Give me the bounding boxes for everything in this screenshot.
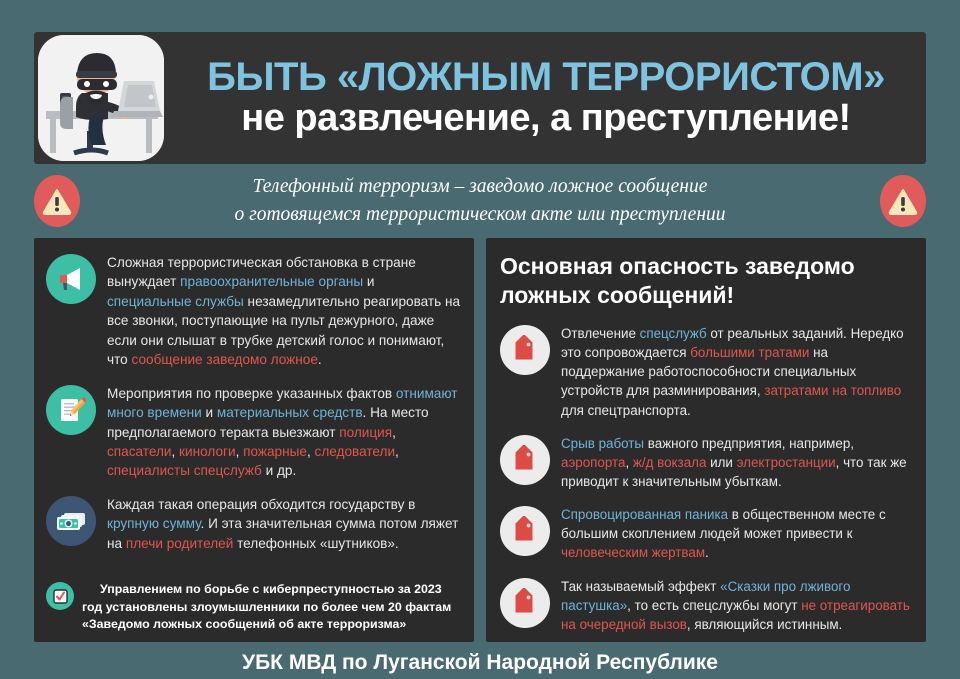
- left-column-panel: Сложная террористическая обстановка в ст…: [34, 238, 474, 642]
- left-item-1-text: Сложная террористическая обстановка в ст…: [107, 252, 462, 370]
- right-heading-line-2: ложных сообщений!: [500, 281, 912, 310]
- price-tag-icon: [500, 506, 550, 556]
- poster-title-secondary: не развлечение, а преступление!: [176, 98, 916, 140]
- list-item: Так называемый эффект «Сказки про лживог…: [500, 576, 912, 634]
- right-heading-line-1: Основная опасность заведомо: [500, 252, 912, 281]
- document-pencil-icon: [46, 385, 96, 435]
- list-item: Каждая такая операция обходится государс…: [46, 494, 462, 553]
- subtitle-line-2: о готовящемся террористическом акте или …: [86, 201, 874, 229]
- price-tag-icon: [500, 578, 550, 628]
- list-item: Отвлечение спецслужб от реальных заданий…: [500, 323, 912, 420]
- megaphone-icon: [46, 254, 96, 304]
- right-item-2-text: Срыв работы важного предприятия, наприме…: [561, 433, 912, 491]
- content-columns: Сложная террористическая обстановка в ст…: [34, 238, 926, 642]
- list-item: Срыв работы важного предприятия, наприме…: [500, 433, 912, 491]
- money-banknotes-icon: [46, 496, 96, 546]
- right-item-3-text: Спровоцированная паника в общественном м…: [561, 504, 912, 562]
- list-item: Спровоцированная паника в общественном м…: [500, 504, 912, 562]
- subtitle-band: Телефонный терроризм – заведомо ложное с…: [34, 170, 926, 232]
- left-item-2-text: Мероприятия по проверке указанных фактов…: [107, 383, 462, 481]
- list-item: Сложная террористическая обстановка в ст…: [46, 252, 462, 370]
- warning-triangle-icon: [34, 175, 80, 227]
- price-tag-icon: [500, 325, 550, 375]
- poster-header: БЫТЬ «ЛОЖНЫМ ТЕРРОРИСТОМ» не развлечение…: [34, 32, 926, 164]
- checkbox-check-icon: [46, 582, 74, 610]
- infographic-poster: БЫТЬ «ЛОЖНЫМ ТЕРРОРИСТОМ» не развлечение…: [0, 0, 960, 679]
- price-tag-icon: [500, 435, 550, 485]
- right-column-heading: Основная опасность заведомо ложных сообщ…: [500, 252, 912, 311]
- statistics-text: Управлением по борьбе с киберпреступност…: [82, 581, 462, 634]
- poster-title-primary: БЫТЬ «ЛОЖНЫМ ТЕРРОРИСТОМ»: [176, 56, 916, 98]
- warning-triangle-icon: [880, 175, 926, 227]
- right-column-panel: Основная опасность заведомо ложных сообщ…: [486, 238, 926, 642]
- list-item: Мероприятия по проверке указанных фактов…: [46, 383, 462, 481]
- subtitle-text: Телефонный терроризм – заведомо ложное с…: [80, 173, 880, 230]
- right-item-1-text: Отвлечение спецслужб от реальных заданий…: [561, 323, 912, 420]
- hacker-at-laptop-illustration: [38, 35, 164, 161]
- footer-authority: УБК МВД по Луганской Народной Республике: [0, 651, 960, 675]
- left-item-3-text: Каждая такая операция обходится государс…: [107, 494, 462, 553]
- header-title-group: БЫТЬ «ЛОЖНЫМ ТЕРРОРИСТОМ» не развлечение…: [164, 56, 926, 140]
- statistics-box: Управлением по борьбе с киберпреступност…: [46, 581, 462, 634]
- subtitle-line-1: Телефонный терроризм – заведомо ложное с…: [86, 173, 874, 201]
- right-item-4-text: Так называемый эффект «Сказки про лживог…: [561, 576, 912, 634]
